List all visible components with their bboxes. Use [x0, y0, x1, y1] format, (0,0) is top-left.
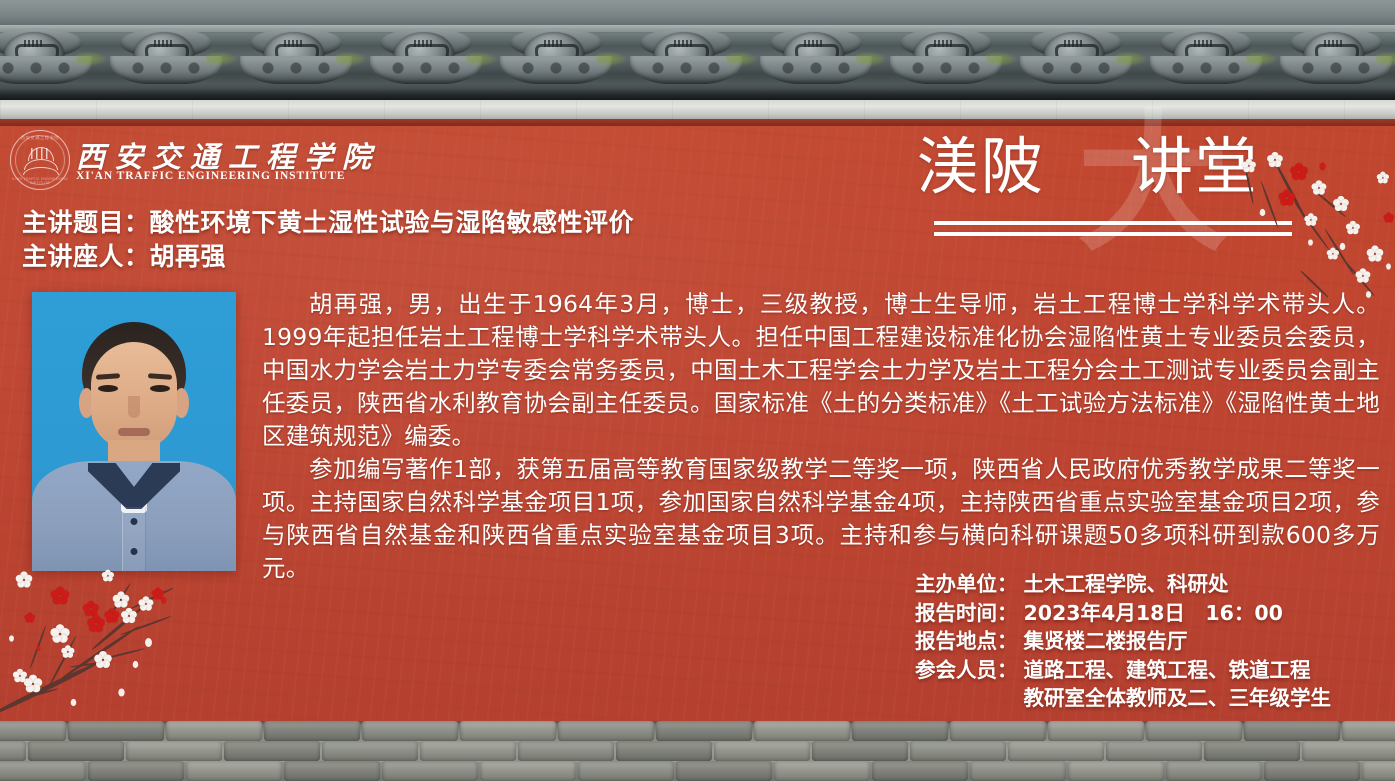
- roof-tile: [890, 28, 1020, 86]
- lecture-poster: 西安交通工程学院 XI'AN TRAFFIC ENGINEERING INSTI…: [0, 0, 1395, 781]
- brick: [88, 761, 184, 781]
- brick: [1166, 761, 1262, 781]
- portrait-placket: [122, 507, 146, 571]
- brick: [480, 761, 576, 781]
- brick: [558, 721, 654, 741]
- portrait-mouth: [118, 428, 150, 436]
- brick: [186, 761, 282, 781]
- talk-topic: 主讲题目：酸性环境下黄土湿性试验与湿陷敏感性评价: [22, 206, 634, 240]
- brick: [28, 741, 124, 761]
- brick: [676, 761, 772, 781]
- roof-tile: [370, 28, 500, 86]
- speaker-biography: 胡再强，男，出生于1964年3月，博士，三级教授，博士生导师，岩土工程博士学科学…: [262, 288, 1380, 585]
- brick: [910, 741, 1006, 761]
- portrait-eye-left: [98, 385, 118, 392]
- brick-row: [0, 741, 1390, 761]
- brand-rule-bottom: [934, 232, 1292, 236]
- brick: [616, 741, 712, 761]
- school-emblem-icon: 西安交通工程学院 XI'AN TRAFFIC ENGINEERING INSTI…: [10, 130, 70, 190]
- emblem-ring-bottom-text: XI'AN TRAFFIC ENGINEERING INSTITUTE: [11, 177, 69, 185]
- brick: [1244, 721, 1340, 741]
- event-detail-row: 报告时间：2023年4月18日 16：00: [915, 599, 1331, 628]
- brand-char-right: 讲堂: [1131, 130, 1259, 203]
- portrait-eye-right: [150, 385, 170, 392]
- brick: [970, 761, 1066, 781]
- brick: [714, 741, 810, 761]
- roof-tile: [110, 28, 240, 86]
- brick: [126, 741, 222, 761]
- brick-row: [0, 721, 1395, 741]
- roof-tile: [500, 28, 630, 86]
- brick: [1106, 741, 1202, 761]
- brick: [754, 721, 850, 741]
- brand-rule-top: [934, 221, 1292, 225]
- event-detail-row: 参会人员：教研室全体教师及二、三年级学生: [915, 684, 1331, 713]
- brick: [420, 741, 516, 761]
- talk-headings: 主讲题目：酸性环境下黄土湿性试验与湿陷敏感性评价 主讲座人：胡再强: [22, 206, 634, 274]
- event-detail-label: 报告地点：: [915, 627, 1018, 656]
- brick: [0, 761, 86, 781]
- brick-row: [0, 761, 1395, 781]
- brick: [852, 721, 948, 741]
- brick: [0, 741, 26, 761]
- event-detail-value: 土木工程学院、科研处: [1024, 570, 1229, 599]
- brick: [0, 721, 66, 741]
- school-name-en: XI'AN TRAFFIC ENGINEERING INSTITUTE: [76, 170, 345, 182]
- roof-tile: [1150, 28, 1280, 86]
- brick: [872, 761, 968, 781]
- talk-speaker: 主讲座人：胡再强: [22, 240, 634, 274]
- roof-shadow: [0, 84, 1395, 100]
- event-detail-label: 主办单位：: [915, 570, 1018, 599]
- brick: [322, 741, 418, 761]
- event-detail-value: 2023年4月18日 16：00: [1024, 599, 1283, 628]
- brick: [1048, 721, 1144, 741]
- brick: [812, 741, 908, 761]
- brick: [1264, 761, 1360, 781]
- event-detail-value: 教研室全体教师及二、三年级学生: [1024, 684, 1332, 713]
- brand-char-left: 渼陂: [917, 130, 1045, 203]
- school-logo: 西安交通工程学院 XI'AN TRAFFIC ENGINEERING INSTI…: [8, 130, 338, 192]
- brick: [362, 721, 458, 741]
- roof-tile: [630, 28, 760, 86]
- bio-paragraph-1: 胡再强，男，出生于1964年3月，博士，三级教授，博士生导师，岩土工程博士学科学…: [262, 288, 1380, 453]
- chinese-roof-tiles: [0, 0, 1395, 100]
- brick: [382, 761, 478, 781]
- brand-characters: 渼陂讲堂: [917, 134, 1367, 200]
- emblem-ring-top-text: 西安交通工程学院: [11, 135, 69, 141]
- portrait-button: [131, 518, 138, 525]
- roof-tile: [1280, 28, 1395, 86]
- roof-tile-row: [0, 28, 1395, 86]
- brick: [1362, 761, 1395, 781]
- brick: [1068, 761, 1164, 781]
- brick: [1146, 721, 1242, 741]
- event-detail-row: 参会人员：道路工程、建筑工程、铁道工程: [915, 656, 1331, 685]
- brick: [774, 761, 870, 781]
- speaker-portrait-photo: [32, 292, 236, 571]
- portrait-button: [131, 548, 138, 555]
- brick: [284, 761, 380, 781]
- bio-paragraph-2: 参加编写著作1部，获第五届高等教育国家级教学二等奖一项，陕西省人民政府优秀教学成…: [262, 453, 1380, 585]
- roof-tile: [0, 28, 110, 86]
- event-detail-label: 参会人员：: [915, 656, 1018, 685]
- brick: [68, 721, 164, 741]
- brick: [1302, 741, 1395, 761]
- event-detail-value: 集贤楼二楼报告厅: [1024, 627, 1188, 656]
- emblem-pillars: [31, 148, 51, 159]
- lecture-series-brand: 大 渼陂讲堂: [917, 130, 1367, 240]
- brick: [460, 721, 556, 741]
- brick: [264, 721, 360, 741]
- brick: [1008, 741, 1104, 761]
- brick: [656, 721, 752, 741]
- brick: [1204, 741, 1300, 761]
- brick: [224, 741, 320, 761]
- event-detail-row: 主办单位：土木工程学院、科研处: [915, 570, 1331, 599]
- brick: [166, 721, 262, 741]
- brick: [1342, 721, 1395, 741]
- event-detail-row: 报告地点：集贤楼二楼报告厅: [915, 627, 1331, 656]
- portrait-nose: [128, 396, 140, 418]
- event-details: 主办单位：土木工程学院、科研处报告时间：2023年4月18日 16：00报告地点…: [915, 570, 1331, 713]
- brick: [518, 741, 614, 761]
- brick: [578, 761, 674, 781]
- roof-tile: [240, 28, 370, 86]
- brick: [950, 721, 1046, 741]
- roof-tile: [1020, 28, 1150, 86]
- event-detail-label: 报告时间：: [915, 599, 1018, 628]
- gray-brick-plinth: [0, 721, 1395, 781]
- roof-tile: [760, 28, 890, 86]
- event-detail-value: 道路工程、建筑工程、铁道工程: [1024, 656, 1311, 685]
